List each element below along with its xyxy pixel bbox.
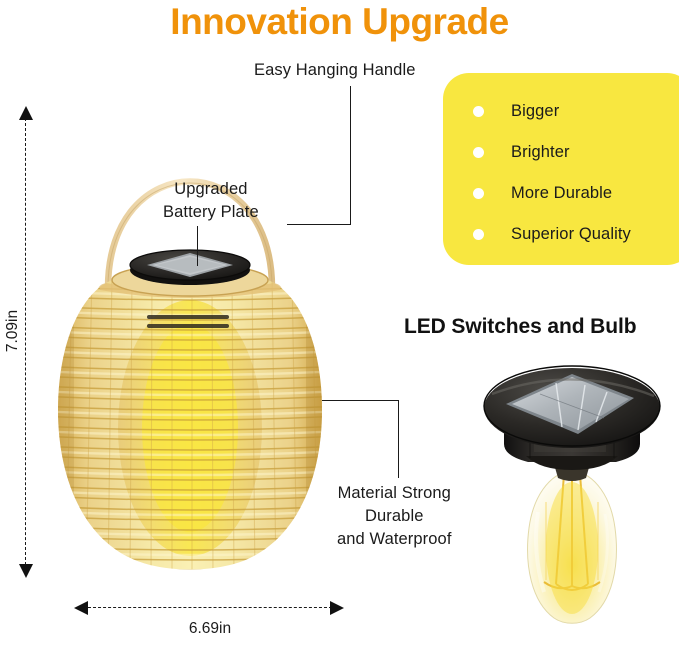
leader-line-battery-plate bbox=[197, 226, 198, 266]
solar-panel-cap bbox=[484, 366, 660, 448]
list-item: Bigger bbox=[473, 101, 559, 121]
leader-line-material bbox=[322, 400, 399, 401]
bullet-dot-icon bbox=[473, 188, 484, 199]
feature-label: Brighter bbox=[511, 143, 570, 162]
feature-label: More Durable bbox=[511, 184, 612, 203]
page-title: Innovation Upgrade bbox=[0, 0, 679, 44]
leader-line-handle bbox=[287, 224, 351, 225]
dimension-label-width: 6.69in bbox=[130, 620, 290, 638]
arrow-right-icon bbox=[330, 601, 344, 615]
feature-label: Bigger bbox=[511, 102, 559, 121]
feature-highlights-box: Bigger Brighter More Durable Superior Qu… bbox=[443, 73, 679, 265]
product-infographic: Innovation Upgrade Bigger Brighter More … bbox=[0, 0, 679, 650]
annotation-material: Material Strong Durable and Waterproof bbox=[337, 482, 452, 551]
arrow-left-icon bbox=[74, 601, 88, 615]
bullet-dot-icon bbox=[473, 229, 484, 240]
section-heading-led: LED Switches and Bulb bbox=[404, 315, 636, 339]
solar-panel-top bbox=[130, 250, 250, 285]
woven-rattan-body bbox=[40, 260, 340, 580]
led-solar-bulb-module-image bbox=[468, 352, 679, 648]
annotation-line: and Waterproof bbox=[337, 528, 452, 551]
annotation-line: Material Strong bbox=[337, 482, 452, 505]
dimension-label-height: 7.09in bbox=[4, 296, 22, 366]
list-item: More Durable bbox=[473, 183, 612, 203]
feature-label: Superior Quality bbox=[511, 225, 631, 244]
feature-list: Bigger Brighter More Durable Superior Qu… bbox=[443, 73, 679, 265]
bullet-dot-icon bbox=[473, 106, 484, 117]
dimension-line-width bbox=[88, 607, 332, 608]
annotation-battery-plate: Upgraded Battery Plate bbox=[163, 178, 259, 224]
annotation-hanging-handle: Easy Hanging Handle bbox=[254, 59, 416, 82]
annotation-line: Durable bbox=[337, 505, 452, 528]
annotation-line: Upgraded bbox=[163, 178, 259, 201]
arrow-down-icon bbox=[19, 564, 33, 578]
bullet-dot-icon bbox=[473, 147, 484, 158]
list-item: Brighter bbox=[473, 142, 570, 162]
list-item: Superior Quality bbox=[473, 224, 631, 244]
arrow-up-icon bbox=[19, 106, 33, 120]
annotation-line: Battery Plate bbox=[163, 201, 259, 224]
leader-line-material bbox=[398, 400, 399, 478]
leader-line-handle bbox=[350, 86, 351, 225]
edison-bulb-glass bbox=[528, 470, 617, 623]
dimension-line-height bbox=[25, 118, 26, 570]
